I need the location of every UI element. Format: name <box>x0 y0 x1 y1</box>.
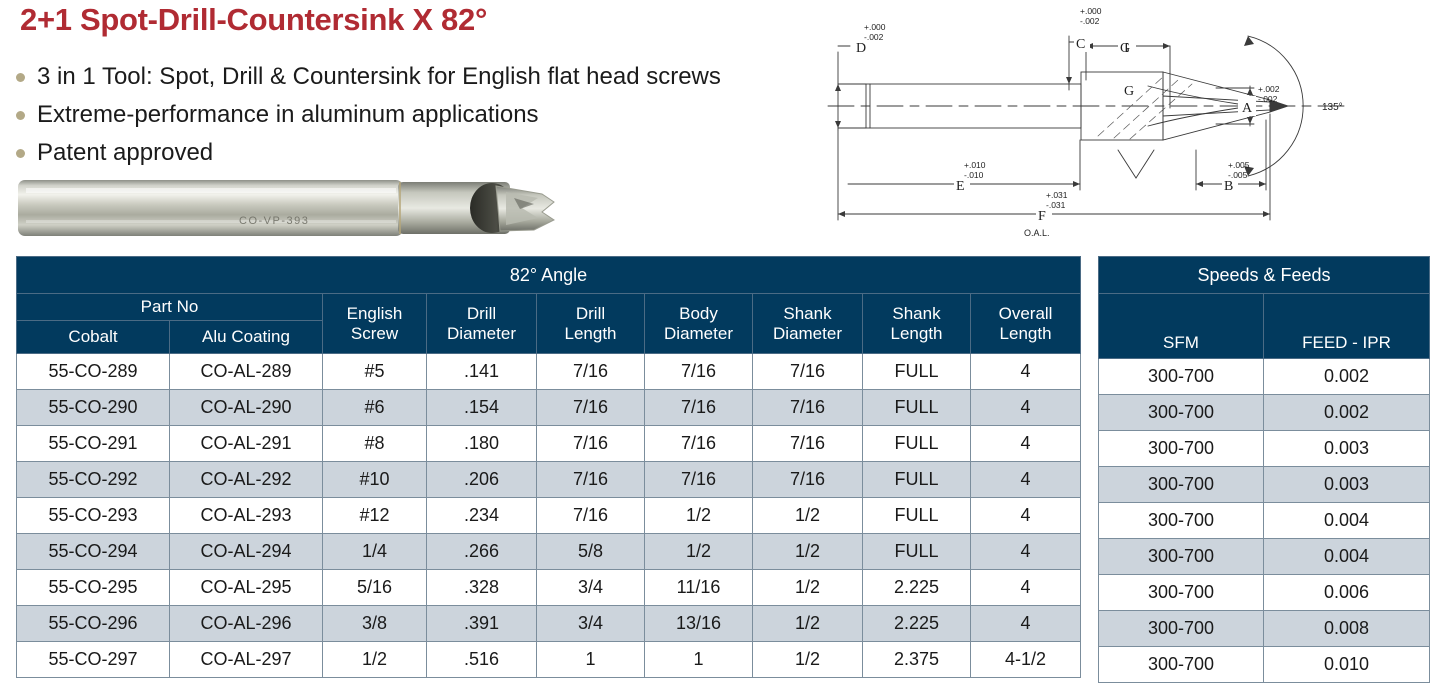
speeds_feeds_table-cell: 0.010 <box>1264 647 1430 683</box>
main_table-cell: 4 <box>971 462 1081 498</box>
speeds_feeds_table-cell: 300-700 <box>1099 503 1264 539</box>
list-item: 3 in 1 Tool: Spot, Drill & Countersink f… <box>16 58 721 96</box>
main_table-cell: .154 <box>427 390 537 426</box>
main_table-cell: CO-AL-291 <box>170 426 323 462</box>
main_table-cell: CO-AL-292 <box>170 462 323 498</box>
main_table-cell: FULL <box>863 390 971 426</box>
drawing-tol-A-plus: +.002 <box>1258 84 1280 94</box>
main_table-cell: 55-CO-294 <box>17 534 170 570</box>
bullet-dot-icon <box>16 111 25 120</box>
drawing-tol-B-plus: +.005 <box>1228 160 1250 170</box>
main_table-cell: 7/16 <box>537 462 645 498</box>
main_table-cell: .206 <box>427 462 537 498</box>
speeds_feeds_table-cell: 0.004 <box>1264 539 1430 575</box>
drawing-tol-E-minus: -.010 <box>964 170 984 180</box>
table-row: 55-CO-295CO-AL-2955/16.3283/411/161/22.2… <box>17 570 1081 606</box>
main_table-cell: 7/16 <box>537 354 645 390</box>
main_table-cell: 7/16 <box>537 498 645 534</box>
drawing-tol-B-minus: -.005 <box>1228 170 1248 180</box>
drawing-label-A: A <box>1242 101 1253 116</box>
specification-table-body: 55-CO-289CO-AL-289#5.1417/167/167/16FULL… <box>17 354 1081 678</box>
main_table-cell: 1/2 <box>323 642 427 678</box>
main_table-cell: 4 <box>971 498 1081 534</box>
main_table-cell: 7/16 <box>645 390 753 426</box>
main_table-cell: 5/16 <box>323 570 427 606</box>
main_table-cell: CO-AL-293 <box>170 498 323 534</box>
col-header-shank-diameter: Shank Diameter <box>753 294 863 354</box>
main_table-cell: 3/8 <box>323 606 427 642</box>
table-group-title-partno: Part No <box>17 294 323 321</box>
drawing-tol-E-plus: +.010 <box>964 160 986 170</box>
main_table-cell: 4 <box>971 390 1081 426</box>
main_table-cell: 1/4 <box>323 534 427 570</box>
col-header-body-diameter: Body Diameter <box>645 294 753 354</box>
table-group-title-angle: 82° Angle <box>17 257 1081 294</box>
main_table-cell: 55-CO-296 <box>17 606 170 642</box>
speeds_feeds_table-cell: 300-700 <box>1099 431 1264 467</box>
table-row: 55-CO-291CO-AL-291#8.1807/167/167/16FULL… <box>17 426 1081 462</box>
main_table-cell: 55-CO-295 <box>17 570 170 606</box>
table-row: 300-7000.010 <box>1099 647 1430 683</box>
drawing-tol-C-plus: +.000 <box>1080 6 1102 16</box>
main_table-cell: 1 <box>645 642 753 678</box>
main_table-cell: #12 <box>323 498 427 534</box>
col-header-drill-length: Drill Length <box>537 294 645 354</box>
speeds_feeds_table-cell: 0.006 <box>1264 575 1430 611</box>
main_table-cell: 2.375 <box>863 642 971 678</box>
speeds_feeds_table-cell: 0.003 <box>1264 431 1430 467</box>
main_table-cell: 13/16 <box>645 606 753 642</box>
main_table-cell: 4 <box>971 534 1081 570</box>
main_table-cell: 5/8 <box>537 534 645 570</box>
drawing-label-F: F <box>1038 209 1046 224</box>
main_table-cell: .391 <box>427 606 537 642</box>
table-row: 300-7000.008 <box>1099 611 1430 647</box>
list-item: Extreme-performance in aluminum applicat… <box>16 96 721 134</box>
main_table-cell: 1/2 <box>753 642 863 678</box>
table-row: 300-7000.002 <box>1099 359 1430 395</box>
table-row: 55-CO-289CO-AL-289#5.1417/167/167/16FULL… <box>17 354 1081 390</box>
main_table-cell: 7/16 <box>753 462 863 498</box>
drawing-label-B: B <box>1224 179 1233 194</box>
drawing-label-G-main: G <box>1124 84 1134 99</box>
main_table-cell: 7/16 <box>537 390 645 426</box>
tool-dimension-drawing: D C G G A E B F I +.000 -.002 +.000 -.00… <box>818 0 1438 250</box>
main_table-cell: 2.225 <box>863 606 971 642</box>
table-header-group-row: 82° Angle <box>17 257 1081 294</box>
col-header-overall-length: Overall Length <box>971 294 1081 354</box>
sf-header-sub-row: SFM FEED - IPR <box>1099 294 1430 359</box>
list-item: Patent approved <box>16 134 721 172</box>
main_table-cell: 55-CO-297 <box>17 642 170 678</box>
main_table-cell: 1/2 <box>753 570 863 606</box>
table-row: 300-7000.003 <box>1099 467 1430 503</box>
main_table-cell: .266 <box>427 534 537 570</box>
table-row: 55-CO-296CO-AL-2963/8.3913/413/161/22.22… <box>17 606 1081 642</box>
main_table-cell: CO-AL-290 <box>170 390 323 426</box>
main_table-cell: 7/16 <box>753 390 863 426</box>
main_table-cell: CO-AL-296 <box>170 606 323 642</box>
main_table-cell: 1/2 <box>645 534 753 570</box>
speeds_feeds_table-cell: 300-700 <box>1099 611 1264 647</box>
main_table-cell: FULL <box>863 354 971 390</box>
drawing-point-angle: 135° <box>1322 102 1343 113</box>
main_table-cell: 7/16 <box>753 426 863 462</box>
bullet-text: 3 in 1 Tool: Spot, Drill & Countersink f… <box>37 63 721 91</box>
drawing-tol-C-minus: -.002 <box>1080 16 1100 26</box>
speeds_feeds_table-cell: 300-700 <box>1099 467 1264 503</box>
header-section: 2+1 Spot-Drill-Countersink X 82° 3 in 1 … <box>0 0 1445 252</box>
main_table-cell: CO-AL-294 <box>170 534 323 570</box>
main_table-cell: 1/2 <box>753 606 863 642</box>
main_table-cell: .516 <box>427 642 537 678</box>
table-row: 300-7000.004 <box>1099 539 1430 575</box>
main_table-cell: 55-CO-291 <box>17 426 170 462</box>
drawing-label-D: D <box>856 41 866 56</box>
col-header-drill-diameter: Drill Diameter <box>427 294 537 354</box>
drawing-label-I: I <box>1124 41 1129 56</box>
col-header-feed-ipr: FEED - IPR <box>1264 294 1430 359</box>
specification-table: 82° Angle Part No English Screw Drill Di… <box>16 256 1081 678</box>
speeds_feeds_table-cell: 300-700 <box>1099 575 1264 611</box>
table-row: 300-7000.002 <box>1099 395 1430 431</box>
main_table-cell: 11/16 <box>645 570 753 606</box>
main_table-cell: .141 <box>427 354 537 390</box>
speeds_feeds_table-cell: 300-700 <box>1099 539 1264 575</box>
main_table-cell: 4 <box>971 570 1081 606</box>
main_table-cell: FULL <box>863 534 971 570</box>
col-header-alu-coating: Alu Coating <box>170 321 323 354</box>
speeds_feeds_table-cell: 0.003 <box>1264 467 1430 503</box>
spot-drill-countersink-tool-photo: CO-VP-393 <box>14 168 582 248</box>
main_table-cell: 3/4 <box>537 570 645 606</box>
table-row: 55-CO-297CO-AL-2971/2.516111/22.3754-1/2 <box>17 642 1081 678</box>
main_table-cell: 7/16 <box>645 426 753 462</box>
main_table-cell: 4 <box>971 354 1081 390</box>
bullet-dot-icon <box>16 73 25 82</box>
main_table-cell: 55-CO-289 <box>17 354 170 390</box>
col-header-shank-length: Shank Length <box>863 294 971 354</box>
main_table-cell: 1/2 <box>753 534 863 570</box>
tool-engraving-text: CO-VP-393 <box>239 215 309 227</box>
bullet-text: Extreme-performance in aluminum applicat… <box>37 101 539 129</box>
drawing-tol-F-minus: -.031 <box>1046 200 1066 210</box>
main_table-cell: 3/4 <box>537 606 645 642</box>
main_table-cell: CO-AL-295 <box>170 570 323 606</box>
main_table-cell: FULL <box>863 498 971 534</box>
speeds_feeds_table-cell: 0.002 <box>1264 359 1430 395</box>
drawing-label-C: C <box>1076 37 1085 52</box>
col-header-english-screw: English Screw <box>323 294 427 354</box>
bullet-dot-icon <box>16 149 25 158</box>
main_table-cell: 4-1/2 <box>971 642 1081 678</box>
main_table-cell: #10 <box>323 462 427 498</box>
speeds-feeds-table-body: 300-7000.002300-7000.002300-7000.003300-… <box>1099 359 1430 683</box>
main_table-cell: .328 <box>427 570 537 606</box>
col-header-cobalt: Cobalt <box>17 321 170 354</box>
speeds_feeds_table-cell: 300-700 <box>1099 647 1264 683</box>
main_table-cell: .180 <box>427 426 537 462</box>
main_table-cell: 55-CO-290 <box>17 390 170 426</box>
main_table-cell: 4 <box>971 426 1081 462</box>
table-header-partno-row: Part No English Screw Drill Diameter Dri… <box>17 294 1081 321</box>
main_table-cell: 1 <box>537 642 645 678</box>
drawing-tol-D-minus: -.002 <box>864 32 884 42</box>
speeds_feeds_table-cell: 300-700 <box>1099 359 1264 395</box>
table-row: 300-7000.006 <box>1099 575 1430 611</box>
main_table-cell: 2.225 <box>863 570 971 606</box>
main_table-cell: 7/16 <box>537 426 645 462</box>
main_table-cell: CO-AL-289 <box>170 354 323 390</box>
main_table-cell: CO-AL-297 <box>170 642 323 678</box>
speeds-feeds-table: Speeds & Feeds SFM FEED - IPR 300-7000.0… <box>1098 256 1430 683</box>
main_table-cell: #5 <box>323 354 427 390</box>
main_table-cell: 55-CO-293 <box>17 498 170 534</box>
table-row: 300-7000.004 <box>1099 503 1430 539</box>
main_table-cell: FULL <box>863 462 971 498</box>
main_table-cell: 55-CO-292 <box>17 462 170 498</box>
speeds_feeds_table-cell: 0.002 <box>1264 395 1430 431</box>
table-row: 55-CO-294CO-AL-2941/4.2665/81/21/2FULL4 <box>17 534 1081 570</box>
drawing-tol-F-plus: +.031 <box>1046 190 1068 200</box>
main_table-cell: #8 <box>323 426 427 462</box>
col-header-sfm: SFM <box>1099 294 1264 359</box>
main_table-cell: 1/2 <box>645 498 753 534</box>
page-title: 2+1 Spot-Drill-Countersink X 82° <box>20 2 487 38</box>
table-row: 55-CO-293CO-AL-293#12.2347/161/21/2FULL4 <box>17 498 1081 534</box>
speeds_feeds_table-cell: 0.008 <box>1264 611 1430 647</box>
main_table-cell: #6 <box>323 390 427 426</box>
speeds_feeds_table-cell: 300-700 <box>1099 395 1264 431</box>
drawing-tol-D-plus: +.000 <box>864 22 886 32</box>
table-row: 55-CO-292CO-AL-292#10.2067/167/167/16FUL… <box>17 462 1081 498</box>
speeds_feeds_table-cell: 0.004 <box>1264 503 1430 539</box>
sf-header-group-row: Speeds & Feeds <box>1099 257 1430 294</box>
main_table-cell: .234 <box>427 498 537 534</box>
feature-bullet-list: 3 in 1 Tool: Spot, Drill & Countersink f… <box>16 58 721 172</box>
main_table-cell: FULL <box>863 426 971 462</box>
main_table-cell: 4 <box>971 606 1081 642</box>
drawing-label-oal: O.A.L. <box>1024 228 1050 238</box>
bullet-text: Patent approved <box>37 139 213 167</box>
main_table-cell: 1/2 <box>753 498 863 534</box>
main_table-cell: 7/16 <box>645 462 753 498</box>
drawing-label-E: E <box>956 179 965 194</box>
sf-group-title: Speeds & Feeds <box>1099 257 1430 294</box>
main_table-cell: 7/16 <box>753 354 863 390</box>
table-row: 300-7000.003 <box>1099 431 1430 467</box>
tool-cutting-tip <box>496 186 554 231</box>
table-row: 55-CO-290CO-AL-290#6.1547/167/167/16FULL… <box>17 390 1081 426</box>
drawing-tol-A-minus: -.002 <box>1258 94 1278 104</box>
main_table-cell: 7/16 <box>645 354 753 390</box>
